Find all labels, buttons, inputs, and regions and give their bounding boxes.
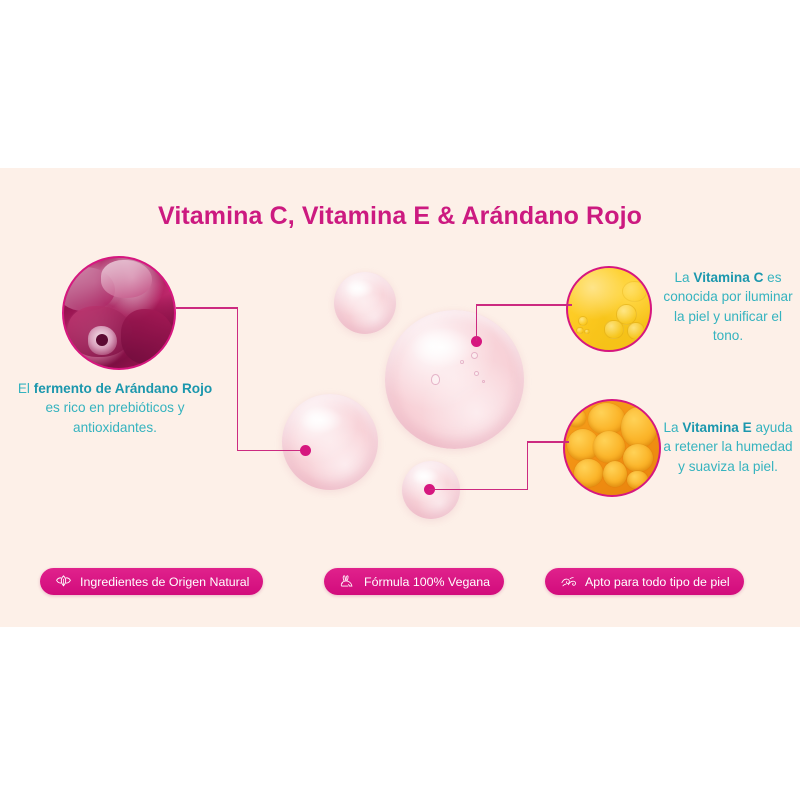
callout-text-emphasis: Vitamina E (682, 420, 751, 435)
gel-bubble (622, 281, 647, 302)
page-title: Vitamina C, Vitamina E & Arándano Rojo (0, 202, 800, 231)
connector-line-cranberry (237, 307, 239, 451)
callout-text-vitamin-c: La Vitamina C es conocida por iluminar l… (660, 268, 796, 345)
callout-text-cranberry: El fermento de Arándano Rojo es rico en … (12, 379, 218, 437)
oil-droplet (567, 409, 586, 428)
vitamin-e-oil-circle (563, 399, 661, 497)
callout-text-emphasis: Vitamina C (693, 270, 763, 285)
connector-line-cranberry (237, 450, 305, 452)
badge-formula-vegana[interactable]: Fórmula 100% Vegana (324, 568, 504, 595)
connector-line-cranberry (176, 307, 238, 309)
leaf-icon (54, 574, 73, 589)
oil-droplet (574, 459, 602, 487)
gel-bubble (604, 320, 624, 338)
callout-text-segment: es rico en prebióticos y antioxidantes. (45, 400, 184, 434)
badge-ingredientes-origen-natural[interactable]: Ingredientes de Origen Natural (40, 568, 263, 595)
connector-dot-cranberry (300, 445, 311, 456)
infographic-canvas: Vitamina C, Vitamina E & Arándano Rojo (0, 0, 800, 800)
callout-text-segment: El (18, 381, 34, 396)
gel-bubble (578, 316, 589, 327)
rabbit-icon (338, 574, 357, 589)
callout-text-emphasis: fermento de Arándano Rojo (34, 381, 213, 396)
cranberry-chunk (101, 260, 152, 297)
gel-bubble (584, 329, 590, 335)
connector-line-vitamin-e (527, 441, 529, 489)
callout-text-segment: La (674, 270, 693, 285)
micro-bubble (471, 352, 478, 359)
micro-bubble (431, 374, 440, 385)
oil-droplet (588, 403, 626, 435)
cranberry-chunk (121, 309, 174, 364)
micro-bubble (460, 360, 464, 364)
skin-swirl-icon (559, 574, 578, 589)
connector-line-vitamin-e (527, 441, 569, 443)
oil-droplet (603, 461, 627, 487)
badge-label: Apto para todo tipo de piel (585, 575, 730, 589)
oil-droplet (621, 407, 657, 448)
vitamin-c-gel-circle (566, 266, 652, 352)
serum-droplet-small-top (334, 272, 396, 334)
callout-text-segment: La (664, 420, 683, 435)
serum-droplet-large (385, 310, 524, 449)
badge-label: Ingredientes de Origen Natural (80, 575, 249, 589)
badge-apto-todo-tipo-piel[interactable]: Apto para todo tipo de piel (545, 568, 744, 595)
cranberry-seed-core (96, 334, 108, 346)
cranberry-texture-circle (62, 256, 176, 370)
callout-text-vitamin-e: La Vitamina E ayuda a retener la humedad… (660, 418, 796, 476)
serum-droplet-medium-left (282, 394, 378, 490)
micro-bubble (474, 371, 479, 376)
oil-droplet (627, 471, 648, 490)
connector-line-vitamin-c (476, 304, 572, 306)
micro-bubble (482, 380, 485, 383)
connector-line-vitamin-e (429, 489, 528, 491)
oil-droplet (623, 444, 653, 472)
badge-label: Fórmula 100% Vegana (364, 575, 490, 589)
gel-bubble (576, 327, 583, 334)
connector-line-vitamin-c (476, 304, 478, 341)
oil-droplet (593, 431, 625, 463)
